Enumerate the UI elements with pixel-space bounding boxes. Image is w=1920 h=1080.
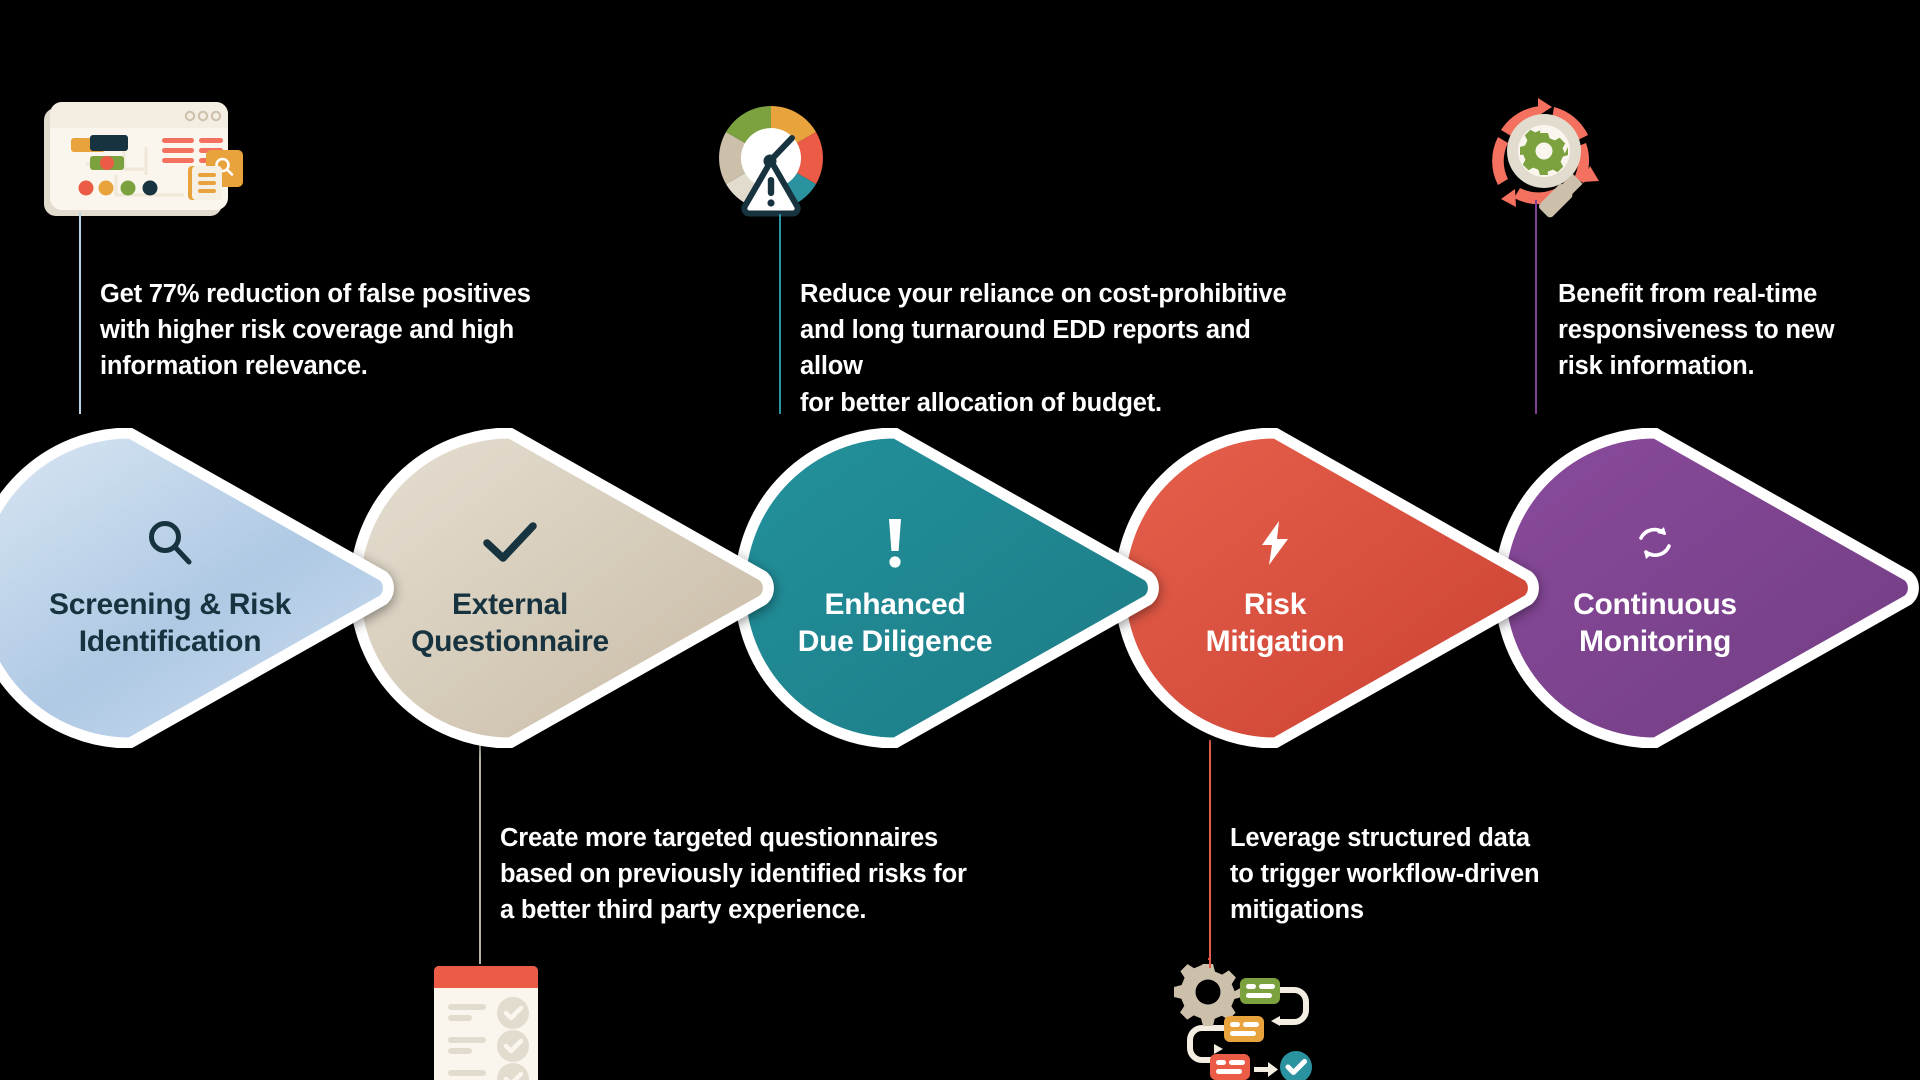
callout-mitigation: Leverage structured data to trigger work… — [1230, 820, 1590, 929]
stage-node-monitoring[interactable]: Continuous Monitoring — [1490, 428, 1920, 748]
connector-screening — [79, 212, 81, 414]
stage-node-screening[interactable]: Screening & Risk Identification — [0, 428, 395, 748]
petal-shape-edd — [730, 428, 1160, 748]
workflow-gear-icon — [1168, 958, 1320, 1080]
magnifier-gear-cycle-icon — [1468, 88, 1628, 238]
gauge-warning-icon — [712, 96, 830, 221]
callout-monitoring: Benefit from real-time responsiveness to… — [1558, 276, 1888, 385]
stage-node-mitigation[interactable]: Risk Mitigation — [1110, 428, 1540, 748]
connector-monitoring — [1535, 200, 1537, 414]
connector-questionnaire — [479, 742, 481, 964]
stage-node-edd[interactable]: Enhanced Due Diligence — [730, 428, 1160, 748]
dashboard-screen-icon — [40, 100, 260, 225]
callout-questionnaire: Create more targeted questionnaires base… — [500, 820, 1000, 929]
stage-node-questionnaire[interactable]: External Questionnaire — [345, 428, 775, 748]
connector-mitigation — [1209, 740, 1211, 968]
callout-screening: Get 77% reduction of false positives wit… — [100, 276, 560, 385]
callout-edd: Reduce your reliance on cost-prohibitive… — [800, 276, 1320, 421]
infographic-canvas: Get 77% reduction of false positives wit… — [0, 0, 1920, 1080]
petal-shape-mitigation — [1110, 428, 1540, 748]
checklist-icon — [424, 958, 548, 1080]
petal-shape-questionnaire — [345, 428, 775, 748]
petal-shape-screening — [0, 428, 395, 748]
petal-shape-monitoring — [1490, 428, 1920, 748]
connector-edd — [779, 214, 781, 414]
